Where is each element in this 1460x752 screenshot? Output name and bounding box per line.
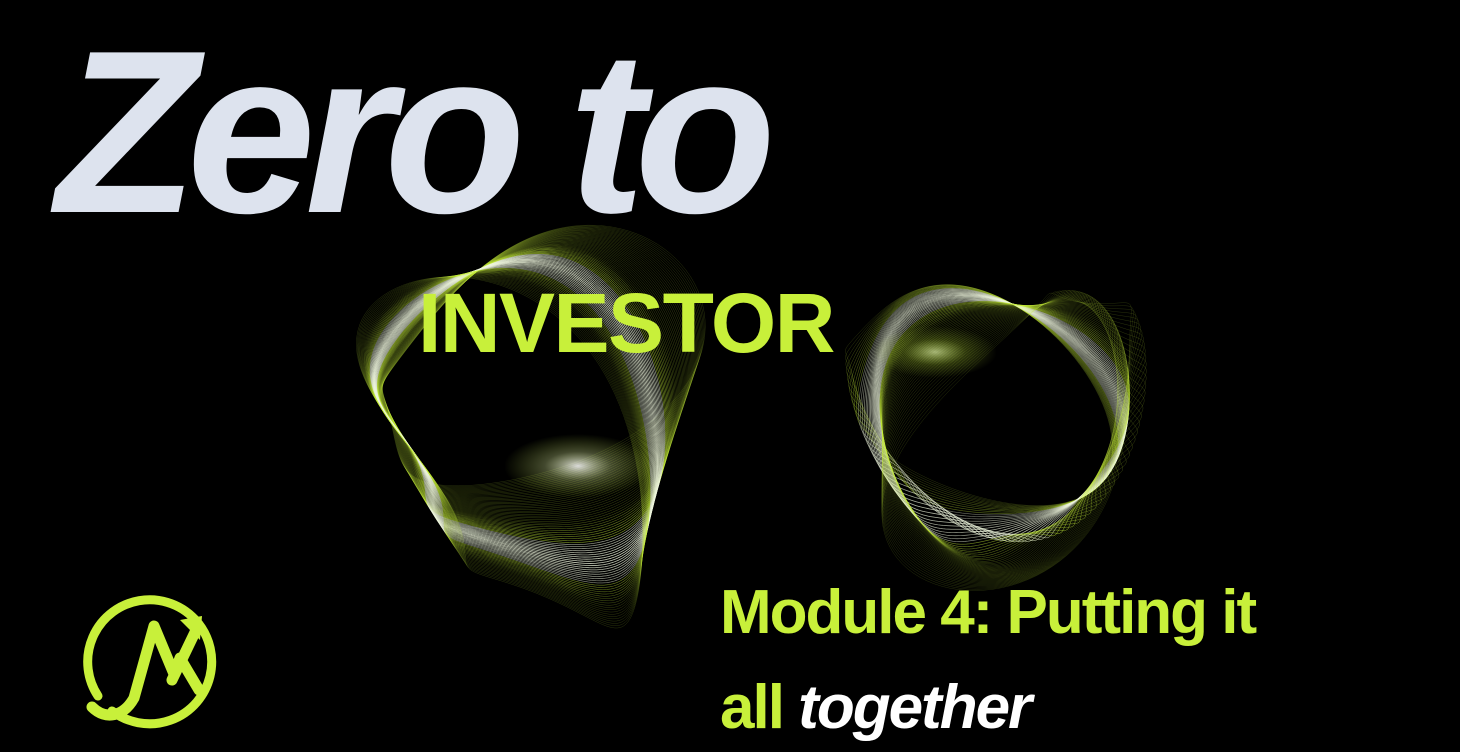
module-title-block: Module 4: Putting it all together (720, 566, 1420, 752)
slide-canvas: Zero to INVESTOR Module 4: Putting it al… (0, 0, 1460, 752)
module-title-line-2: all together (720, 661, 1420, 752)
module-title-line-2-emphasis: together (798, 673, 1030, 742)
headline-investor: INVESTOR (418, 281, 834, 365)
module-title-line-2-plain: all (720, 673, 798, 742)
chart-arrow-circle-logo (68, 570, 244, 746)
logo-peak-zigzag (92, 626, 199, 715)
module-title-line-1: Module 4: Putting it (720, 566, 1420, 661)
blob-right-node-glow (873, 326, 997, 378)
headline-zero-to: Zero to (56, 26, 765, 239)
wireframe-blob-right (845, 285, 1146, 591)
blob-left-node-glow (504, 434, 652, 498)
